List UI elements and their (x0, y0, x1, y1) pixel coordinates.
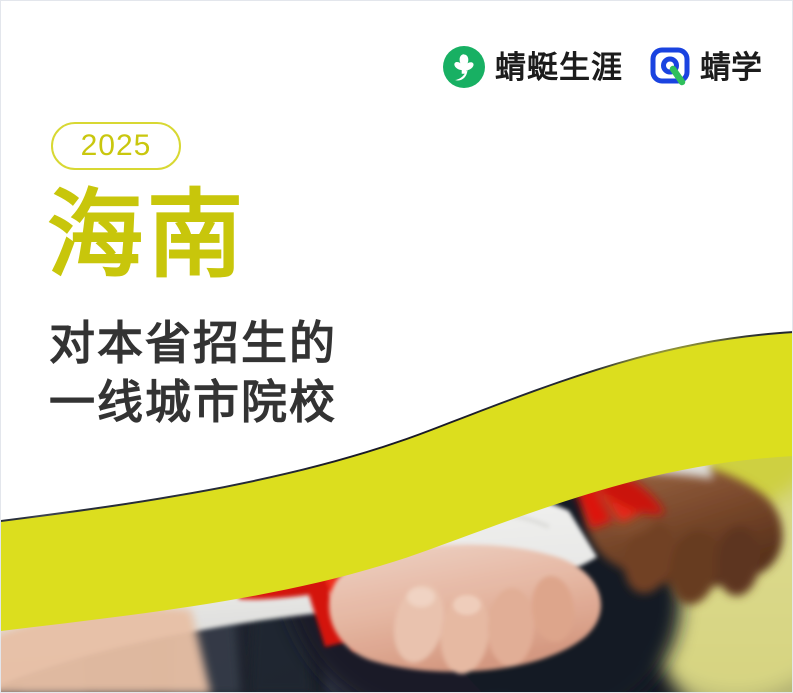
brand-dragonfly-career-label: 蜻蜓生涯 (495, 52, 623, 83)
brand-qingxue[interactable]: 蜻学 (649, 46, 762, 88)
subtitle-line-2: 一线城市院校 (49, 373, 337, 432)
brand-bar: 蜻蜓生涯 蜻学 (442, 45, 762, 89)
year-badge-label: 2025 (81, 131, 152, 161)
foreground-scroll (1, 489, 597, 693)
page-title: 海南 (47, 185, 247, 287)
red-ribbon-back (521, 433, 665, 529)
poster-canvas: 蜻蜓生涯 蜻学 2025 海南 对本省招生的 一线城市院校 (0, 0, 793, 693)
brand-dragonfly-career[interactable]: 蜻蜓生涯 (442, 45, 623, 89)
brand-qingxue-label: 蜻学 (700, 52, 762, 83)
subtitle-line-1: 对本省招生的 (49, 314, 337, 373)
q-square-icon (649, 46, 691, 88)
near-hand (329, 545, 601, 677)
dragonfly-leaf-circle-icon (442, 45, 486, 89)
red-ribbon-front (189, 549, 415, 651)
page-subtitle: 对本省招生的 一线城市院校 (49, 314, 337, 432)
year-badge: 2025 (51, 122, 181, 170)
